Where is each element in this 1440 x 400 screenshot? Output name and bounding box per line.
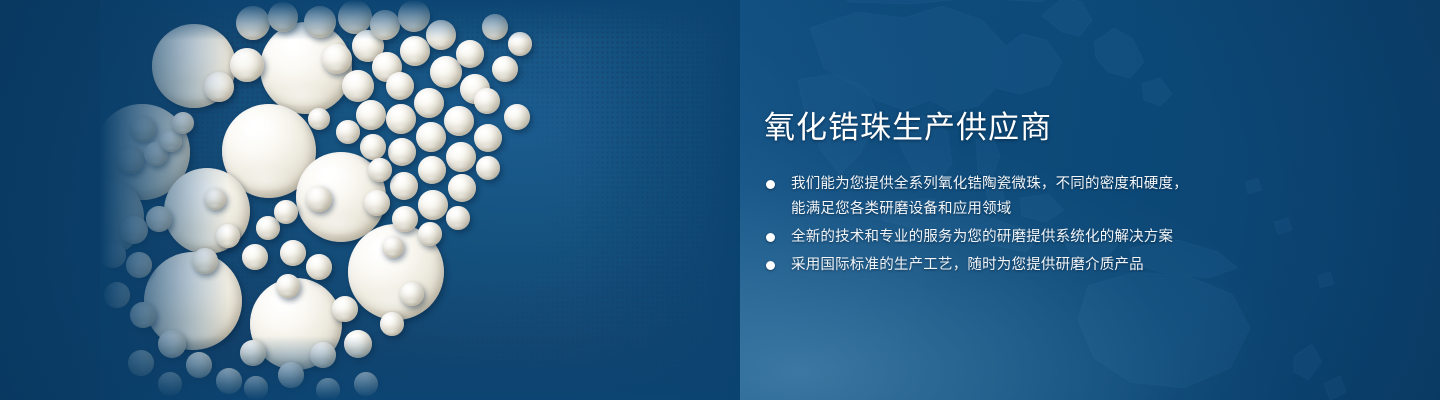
bullet-dot-icon bbox=[766, 261, 775, 270]
bullet-dot-icon bbox=[766, 180, 775, 189]
list-item: 全新的技术和专业的服务为您的研磨提供系统化的解决方案 bbox=[764, 225, 1234, 250]
page-title: 氧化锆珠生产供应商 bbox=[764, 106, 1234, 150]
list-item-line: 采用国际标准的生产工艺，随时为您提供研磨介质产品 bbox=[791, 253, 1234, 278]
hero-banner: 氧化锆珠生产供应商 我们能为您提供全系列氧化锆陶瓷微珠，不同的密度和硬度， 能满… bbox=[0, 0, 1440, 400]
list-item-line: 我们能为您提供全系列氧化锆陶瓷微珠，不同的密度和硬度， bbox=[791, 172, 1234, 197]
list-item: 我们能为您提供全系列氧化锆陶瓷微珠，不同的密度和硬度， 能满足您各类研磨设备和应… bbox=[764, 172, 1234, 222]
list-item-line: 全新的技术和专业的服务为您的研磨提供系统化的解决方案 bbox=[791, 225, 1234, 250]
banner-content: 氧化锆珠生产供应商 我们能为您提供全系列氧化锆陶瓷微珠，不同的密度和硬度， 能满… bbox=[764, 106, 1234, 281]
list-item-line: 能满足您各类研磨设备和应用领域 bbox=[791, 197, 1234, 222]
list-item: 采用国际标准的生产工艺，随时为您提供研磨介质产品 bbox=[764, 253, 1234, 278]
feature-list: 我们能为您提供全系列氧化锆陶瓷微珠，不同的密度和硬度， 能满足您各类研磨设备和应… bbox=[764, 172, 1234, 278]
bullet-dot-icon bbox=[766, 233, 775, 242]
